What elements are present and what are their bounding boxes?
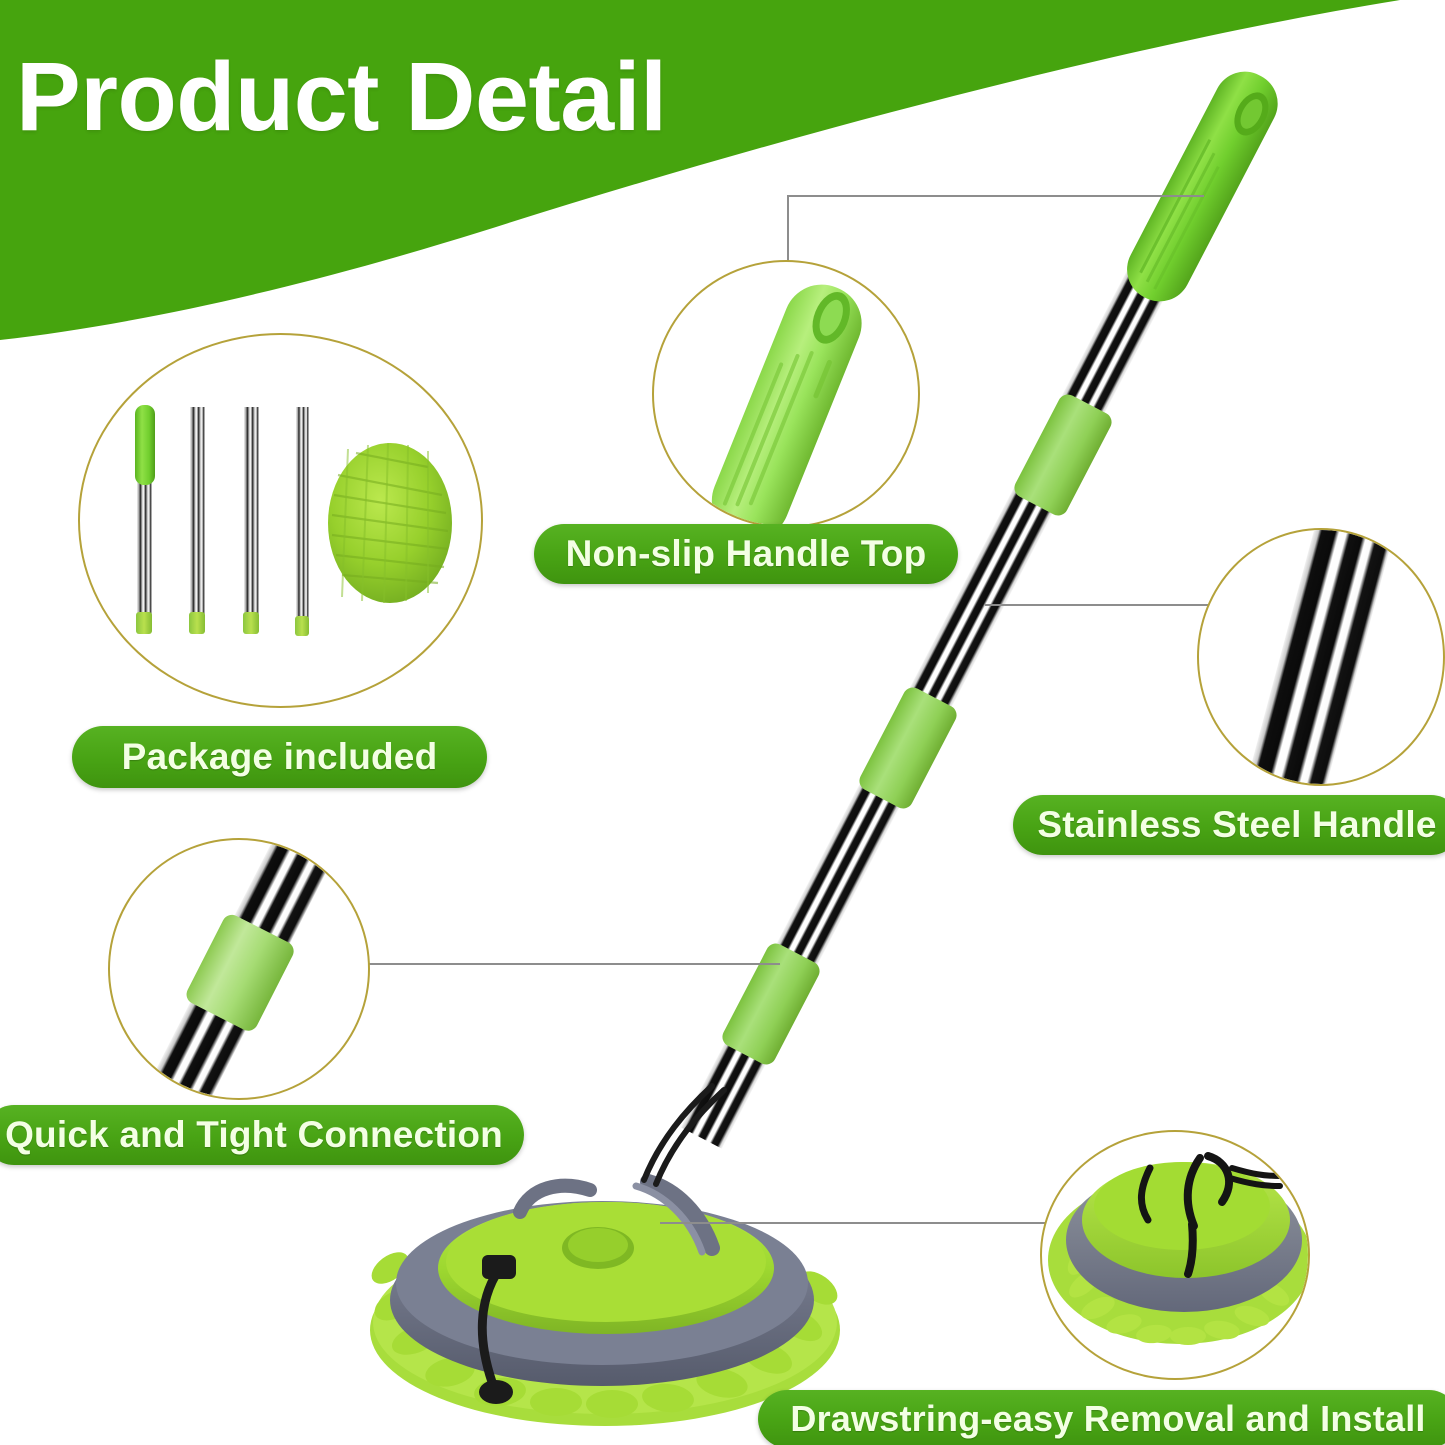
label-package-included: Package included [72,726,487,788]
leader-line-steel [985,604,1235,606]
leader-line-drawstring [660,1222,1092,1224]
callout-circle-connection [108,838,370,1100]
package-contents-icon [80,335,481,706]
callout-circle-package-included [78,333,483,708]
leader-line-handle-horizontal [787,195,1204,197]
callout-circle-steel-handle [1197,528,1445,786]
callout-circle-drawstring [1040,1130,1310,1380]
handle-grip-icon [654,262,918,526]
label-drawstring-removal: Drawstring-easy Removal and Install [758,1390,1445,1445]
steel-pole-icon [1199,530,1443,784]
leader-line-connection [365,963,780,965]
label-quick-tight-connection: Quick and Tight Connection [0,1105,524,1165]
label-stainless-steel-handle: Stainless Steel Handle [1013,795,1445,855]
callout-circle-handle-top [652,260,920,528]
drawstring-pad-icon [1042,1132,1308,1378]
connector-collar-icon [110,840,368,1098]
product-detail-infographic: Product Detail [0,0,1445,1445]
label-non-slip-handle-top: Non-slip Handle Top [534,524,958,584]
page-title: Product Detail [16,46,667,148]
